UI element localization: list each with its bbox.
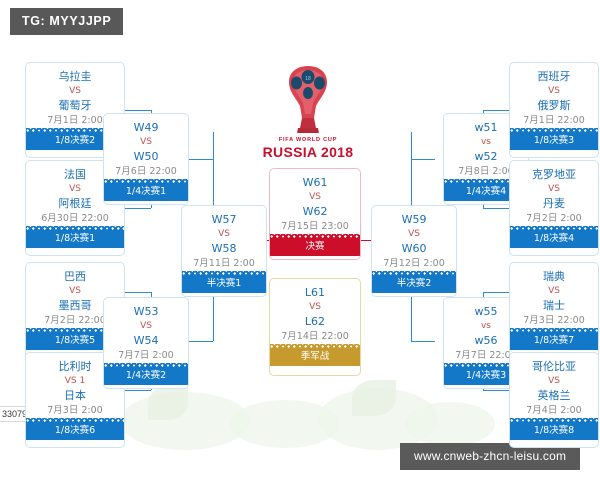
match-date: 7月4日 2:00 [512,403,596,418]
vs-label: VS [512,284,596,298]
vs-label: VS [374,227,454,241]
match-card-r16-right-1[interactable]: 西班牙 VS 俄罗斯 7月1日 22:00 1/8决赛3 [509,62,599,158]
match-card-r16-right-4[interactable]: 哥伦比亚 VS 英格兰 7月4日 2:00 1/8决赛8 [509,352,599,448]
away-team: L62 [272,314,358,329]
away-team: 瑞士 [512,298,596,313]
away-team: 俄罗斯 [512,98,596,113]
match-card-body: W61 VS W62 7月15日 23:00 [270,169,360,238]
away-team: W58 [184,241,264,256]
away-team: W50 [106,149,186,164]
stage-label: 决赛 [270,238,360,256]
match-card-qf-left-1[interactable]: W49 VS W50 7月6日 22:00 1/4决赛1 [103,113,189,205]
vs-label: VS [28,284,122,298]
leaf-decoration [148,386,188,420]
stage-label: 1/8决赛1 [26,230,124,248]
connector-line [125,390,151,391]
home-team: 西班牙 [512,69,596,84]
match-date: 7月14日 22:00 [272,329,358,344]
match-card-r16-right-3[interactable]: 瑞典 VS 瑞士 7月3日 22:00 1/8决赛7 [509,262,599,358]
away-team: 日本 [28,388,122,403]
connector-line [125,292,151,293]
vs-label: VS [512,182,596,196]
connector-line [213,132,214,160]
vs-label: VS [512,374,596,388]
stage-label: 1/8决赛6 [26,422,124,440]
home-team: W57 [184,212,264,227]
home-team: 乌拉圭 [28,69,122,84]
away-team: 英格兰 [512,388,596,403]
stage-label: 半决赛1 [182,275,266,293]
connector-line [411,159,435,160]
match-card-body: W59 VS W60 7月12日 2:00 [372,206,456,275]
match-date: 7月15日 23:00 [272,219,358,234]
match-card-body: L61 VS L62 7月14日 22:00 [270,279,360,348]
emblem-line1: FIFA WORLD CUP [258,136,358,144]
stage-label: 半决赛2 [372,275,456,293]
match-date: 7月6日 22:00 [106,164,186,179]
match-card-qf-left-2[interactable]: W53 VS W54 7月7日 2:00 1/4决赛2 [103,297,189,389]
match-card-body: 克罗地亚 VS 丹麦 7月2日 2:00 [510,161,598,230]
connector-line [411,341,435,342]
home-team: W61 [272,175,358,190]
away-team: W60 [374,241,454,256]
stage-label: 1/8决赛7 [510,332,598,350]
home-team: 瑞典 [512,269,596,284]
away-team: 丹麦 [512,196,596,211]
stage-label: 1/4决赛1 [104,183,188,201]
match-card-body: 哥伦比亚 VS 英格兰 7月4日 2:00 [510,353,598,422]
match-card-semifinal-2[interactable]: W59 VS W60 7月12日 2:00 半决赛2 [371,205,457,297]
match-date: 7月3日 22:00 [512,313,596,328]
stage-label: 1/8决赛4 [510,230,598,248]
match-date: 7月7日 2:00 [106,348,186,363]
emblem-line2: RUSSIA 2018 [258,144,358,161]
match-card-body: W53 VS W54 7月7日 2:00 [104,298,188,367]
stage-label: 季军战 [270,348,360,366]
bracket-page: 18 FIFA WORLD CUP RUSSIA 2018 乌拉圭 VS 葡萄牙… [0,0,600,480]
leaf-decoration [352,380,396,416]
home-team: 巴西 [28,269,122,284]
match-card-third-place[interactable]: L61 VS L62 7月14日 22:00 季军战 [269,278,361,376]
match-card-body: W49 VS W50 7月6日 22:00 [104,114,188,183]
home-team: W49 [106,120,186,135]
stage-label: 1/4决赛2 [104,367,188,385]
svg-text:18: 18 [305,76,311,82]
connector-line [411,132,412,160]
match-card-body: 西班牙 VS 俄罗斯 7月1日 22:00 [510,63,598,132]
match-date: 7月11日 2:00 [184,256,264,271]
connector-line [125,208,151,209]
vs-label: VS [184,227,264,241]
stage-label: 1/8决赛3 [510,132,598,150]
vs-label: VS [512,84,596,98]
vs-label: VS [106,135,186,149]
emblem-caption: FIFA WORLD CUP RUSSIA 2018 [258,136,358,161]
match-date: 7月12日 2:00 [374,256,454,271]
home-team: 克罗地亚 [512,167,596,182]
background-decoration [405,402,495,446]
home-team: W53 [106,304,186,319]
home-team: 哥伦比亚 [512,359,596,374]
home-team: W59 [374,212,454,227]
vs-label: VS [272,190,358,204]
vs-label: VS [272,300,358,314]
connector-line [483,390,509,391]
connector-line [483,292,509,293]
match-card-body: W57 VS W58 7月11日 2:00 [182,206,266,275]
connector-line [483,110,509,111]
match-date: 7月2日 2:00 [512,211,596,226]
connector-line [189,159,213,160]
vs-label: VS [106,319,186,333]
match-card-final[interactable]: W61 VS W62 7月15日 23:00 决赛 [269,168,361,260]
match-card-body: 瑞典 VS 瑞士 7月3日 22:00 [510,263,598,332]
tg-badge: TG: MYYJJPP [10,8,123,35]
match-date: 6月30日 22:00 [28,211,122,226]
fifa-world-cup-trophy-icon: 18 [276,62,340,136]
vs-label: VS [28,84,122,98]
connector-line [125,110,151,111]
stage-label: 1/8决赛8 [510,422,598,440]
match-date: 7月3日 2:00 [28,403,122,418]
connector-line [189,341,213,342]
home-team: L61 [272,285,358,300]
match-card-semifinal-1[interactable]: W57 VS W58 7月11日 2:00 半决赛1 [181,205,267,297]
away-team: W54 [106,333,186,348]
match-date: 7月1日 22:00 [512,113,596,128]
match-card-r16-right-2[interactable]: 克罗地亚 VS 丹麦 7月2日 2:00 1/8决赛4 [509,160,599,256]
away-team: W62 [272,204,358,219]
away-team: 葡萄牙 [28,98,122,113]
connector-line [483,208,509,209]
